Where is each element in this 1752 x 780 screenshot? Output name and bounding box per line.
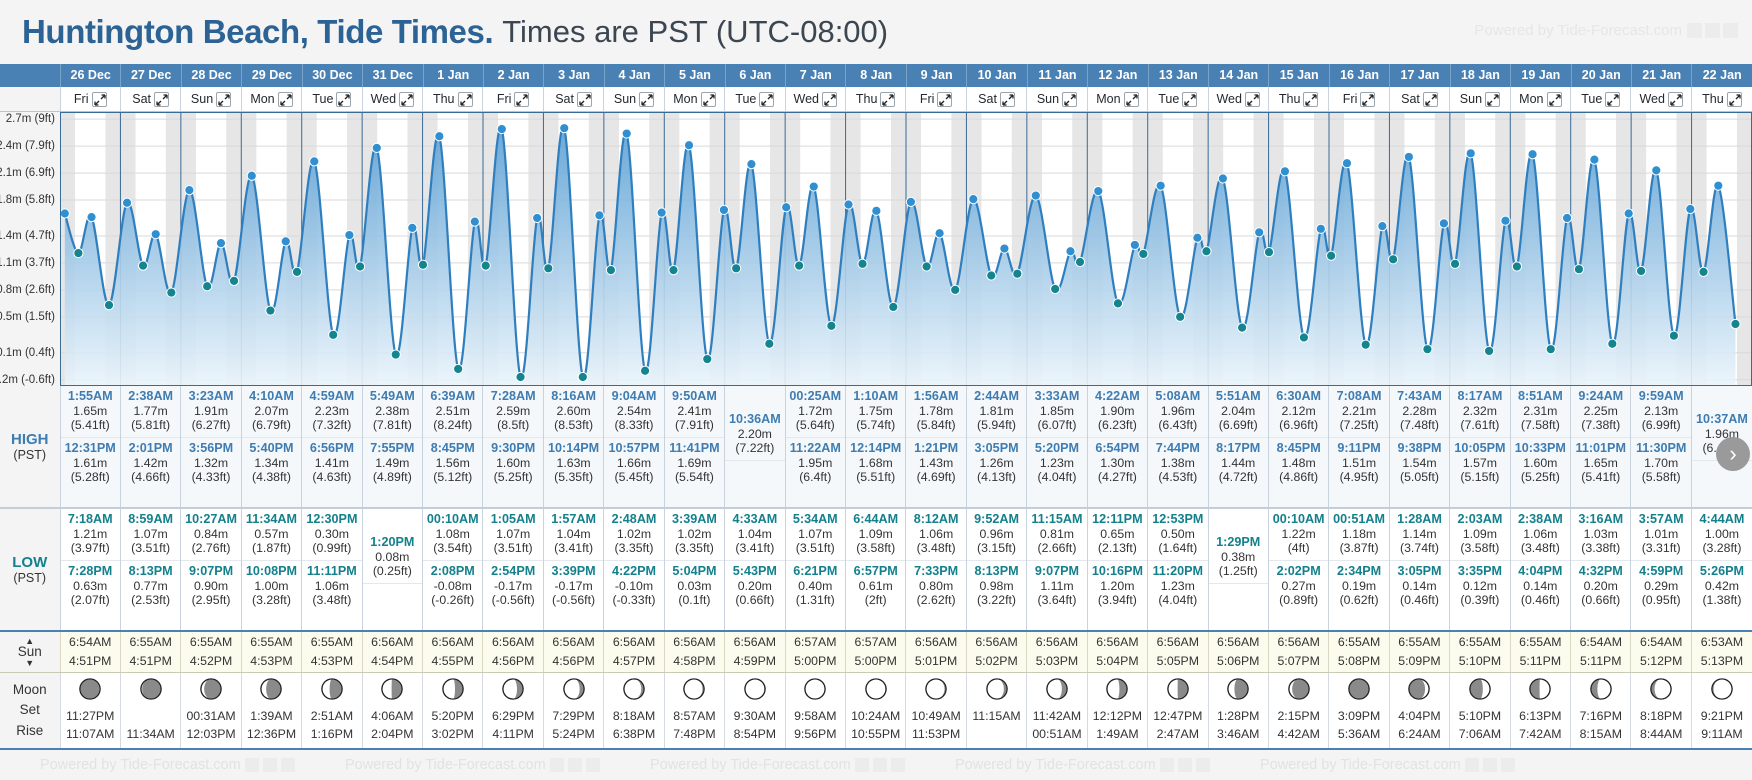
tide-time: 2:48AM — [604, 512, 663, 527]
tide-height-m: 1.07m — [786, 527, 845, 542]
tide-time: 3:05PM — [967, 441, 1026, 456]
tide-height-m: 1.06m — [302, 579, 361, 594]
weekday-cell-14: Fri — [906, 87, 966, 112]
tide-event: 10:05PM1.57m(5.15ft) — [1450, 437, 1509, 489]
weekday-label: Sun — [614, 92, 636, 106]
tide-event: 00:51AM1.18m(3.87ft) — [1329, 509, 1388, 560]
tide-height-m: 1.03m — [1571, 527, 1630, 542]
tide-event: 3:39AM1.02m(3.35ft) — [665, 509, 724, 560]
tide-height-m: 2.25m — [1571, 404, 1630, 419]
moonset-time: 7:29PM — [544, 708, 603, 726]
tide-height-m: 1.09m — [846, 527, 905, 542]
sunrise-time: 6:54AM — [1571, 633, 1630, 652]
tide-time: 4:59AM — [302, 389, 361, 404]
tide-height-m: 1.68m — [846, 456, 905, 471]
sun-cell-24: 6:55AM5:11PM — [1510, 631, 1570, 673]
tide-time: 11:41PM — [665, 441, 724, 456]
tide-time: 3:23AM — [181, 389, 240, 404]
expand-day-icon[interactable] — [1423, 92, 1438, 107]
tide-height-m: 0.12m — [1450, 579, 1509, 594]
moon-cell-20: 2:15PM4:42AM — [1268, 673, 1328, 749]
tide-time: 9:04AM — [604, 389, 663, 404]
sunset-time: 5:13PM — [1692, 652, 1752, 671]
tide-time: 7:28PM — [61, 564, 120, 579]
sunrise-time: 6:56AM — [363, 633, 422, 652]
expand-day-icon[interactable] — [336, 92, 351, 107]
expand-day-icon[interactable] — [1182, 92, 1197, 107]
weekday-cell-7: Fri — [483, 87, 543, 112]
high-tide-cell-12: 00:25AM1.72m(5.64ft)11:22AM1.95m(6.4ft) — [785, 386, 845, 508]
tide-height-ft: (6.27ft) — [181, 418, 240, 433]
low-tide-cell-11: 4:33AM1.04m(3.41ft)5:43PM0.20m(0.66ft) — [725, 508, 785, 631]
tide-height-ft: (6.23ft) — [1088, 418, 1147, 433]
high-tide-cell-8: 8:16AM2.60m(8.53ft)10:14PM1.63m(5.35ft) — [543, 386, 603, 508]
tide-event: 5:40PM1.34m(4.38ft) — [242, 437, 301, 489]
high-tide-row: HIGH (PST) 1:55AM1.65m(5.41ft)12:31PM1.6… — [0, 386, 1752, 508]
sunset-time: 4:56PM — [483, 652, 542, 671]
tide-event: 11:15AM0.81m(2.66ft) — [1027, 509, 1086, 560]
tide-time: 10:33PM — [1511, 441, 1570, 456]
weekday-cell-2: Sun — [181, 87, 241, 112]
sun-cell-6: 6:56AM4:55PM — [423, 631, 483, 673]
tide-height-ft: (8.53ft) — [544, 418, 603, 433]
tide-height-ft: (4.04ft) — [1027, 470, 1086, 485]
tide-time: 4:59PM — [1631, 564, 1690, 579]
tide-time: 9:11PM — [1329, 441, 1388, 456]
tide-event: 9:04AM2.54m(8.33ft) — [604, 386, 663, 437]
y-axis-tick-2: 2.1m (6.9ft) — [0, 167, 55, 179]
page-title: Huntington Beach, Tide Times. — [22, 13, 493, 51]
sun-cell-26: 6:54AM5:12PM — [1631, 631, 1691, 673]
sunrise-time: 6:56AM — [1269, 633, 1328, 652]
high-tide-cell-20: 6:30AM2.12m(6.96ft)8:45PM1.48m(4.86ft) — [1268, 386, 1328, 508]
tide-time: 7:28AM — [483, 389, 542, 404]
tide-time: 6:39AM — [423, 389, 482, 404]
tide-height-m: 1.41m — [302, 456, 361, 471]
date-header-row: 26 Dec27 Dec28 Dec29 Dec30 Dec31 Dec1 Ja… — [0, 64, 1752, 87]
high-tide-cell-18: 5:08AM1.96m(6.43ft)7:44PM1.38m(4.53ft) — [1148, 386, 1208, 508]
share-icon-1 — [550, 758, 564, 772]
moonrise-time: 1:16PM — [302, 726, 361, 744]
tide-time: 9:07PM — [181, 564, 240, 579]
tide-height-ft: (3.74ft) — [1390, 541, 1449, 556]
tide-height-ft: (3.87ft) — [1329, 541, 1388, 556]
low-tide-cell-23: 2:03AM1.09m(3.58ft)3:35PM0.12m(0.39ft) — [1450, 508, 1510, 631]
tide-time: 10:16PM — [1088, 564, 1147, 579]
tide-event: 9:59AM2.13m(6.99ft) — [1631, 386, 1690, 437]
tide-event: 11:11PM1.06m(3.48ft) — [302, 560, 361, 612]
tide-height-ft: (8.24ft) — [423, 418, 482, 433]
low-tide-cell-13: 6:44AM1.09m(3.58ft)6:57PM0.61m(2ft) — [845, 508, 905, 631]
tide-height-m: 1.56m — [423, 456, 482, 471]
expand-day-icon[interactable] — [1245, 92, 1260, 107]
moonset-time: 9:58AM — [786, 708, 845, 726]
tide-time: 1:29PM — [1209, 535, 1268, 550]
sunset-time: 5:12PM — [1631, 652, 1690, 671]
moonset-time: 12:12PM — [1088, 708, 1147, 726]
tide-height-m: 0.61m — [846, 579, 905, 594]
tide-event: 7:44PM1.38m(4.53ft) — [1148, 437, 1207, 489]
tide-event: 4:22AM1.90m(6.23ft) — [1088, 386, 1147, 437]
moon-cell-1: 11:34AM — [120, 673, 180, 749]
tide-height-ft: (3.35ft) — [604, 541, 663, 556]
sunrise-time: 6:54AM — [1631, 633, 1690, 652]
tide-height-m: 1.14m — [1390, 527, 1449, 542]
moon-phase-icon — [1469, 687, 1491, 704]
tide-height-m: 1.23m — [1027, 456, 1086, 471]
tide-time: 9:07PM — [1027, 564, 1086, 579]
tide-height-m: 1.65m — [61, 404, 120, 419]
tide-event: 9:52AM0.96m(3.15ft) — [967, 509, 1026, 560]
tide-event: 3:05PM0.14m(0.46ft) — [1390, 560, 1449, 612]
tide-event-empty — [1209, 583, 1268, 630]
moonrise-time: 6:38PM — [604, 726, 663, 744]
sun-cell-4: 6:55AM4:53PM — [302, 631, 362, 673]
low-tide-cell-14: 8:12AM1.06m(3.48ft)7:33PM0.80m(2.62ft) — [906, 508, 966, 631]
sunset-time: 5:03PM — [1027, 652, 1086, 671]
sun-cell-12: 6:57AM5:00PM — [785, 631, 845, 673]
sunset-time: 4:51PM — [61, 652, 120, 671]
tide-time: 1:56AM — [906, 389, 965, 404]
tide-height-ft: (3.22ft) — [967, 593, 1026, 608]
tide-height-ft: (0.62ft) — [1329, 593, 1388, 608]
moonset-time: 3:09PM — [1329, 708, 1388, 726]
tide-height-m: 2.38m — [363, 404, 422, 419]
tide-event: 9:07PM0.90m(2.95ft) — [181, 560, 240, 612]
tide-height-m: 1.30m — [1088, 456, 1147, 471]
tide-time: 7:44PM — [1148, 441, 1207, 456]
moon-cell-22: 4:04PM6:24AM — [1389, 673, 1449, 749]
watermark-text: Powered by Tide-Forecast.com — [650, 757, 851, 773]
tide-event: 8:12AM1.06m(3.48ft) — [906, 509, 965, 560]
sunset-time: 5:05PM — [1148, 652, 1207, 671]
tide-time: 9:24AM — [1571, 389, 1630, 404]
date-header-22: 17 Jan — [1389, 64, 1449, 87]
date-header-17: 12 Jan — [1087, 64, 1147, 87]
tide-height-ft: (3.35ft) — [665, 541, 724, 556]
moon-phase-icon — [744, 687, 766, 704]
expand-day-icon[interactable] — [880, 92, 895, 107]
high-tide-cell-2: 3:23AM1.91m(6.27ft)3:56PM1.32m(4.33ft) — [181, 386, 241, 508]
tide-time: 8:13PM — [967, 564, 1026, 579]
moon-cell-17: 12:12PM1:49AM — [1087, 673, 1147, 749]
expand-day-icon[interactable] — [639, 92, 654, 107]
expand-day-icon[interactable] — [577, 92, 592, 107]
expand-day-icon[interactable] — [1605, 92, 1620, 107]
moonset-time: 8:18AM — [604, 708, 663, 726]
tide-height-m: 0.30m — [302, 527, 361, 542]
watermark-text: Powered by Tide-Forecast.com — [40, 757, 241, 773]
tide-event: 00:10AM1.22m(4ft) — [1269, 509, 1328, 560]
date-header-9: 4 Jan — [604, 64, 664, 87]
tide-height-ft: (3.58ft) — [846, 541, 905, 556]
moon-cell-27: 9:21PM9:11AM — [1691, 673, 1752, 749]
tide-grid: 26 Dec27 Dec28 Dec29 Dec30 Dec31 Dec1 Ja… — [0, 64, 1752, 750]
expand-day-icon[interactable] — [399, 92, 414, 107]
moonrise-time: 11:34AM — [121, 726, 180, 744]
tide-time: 8:59AM — [121, 512, 180, 527]
share-icon-2 — [873, 758, 887, 772]
moonset-time: 4:04PM — [1390, 708, 1449, 726]
share-icon-1 — [1465, 758, 1479, 772]
tide-time: 4:10AM — [242, 389, 301, 404]
tide-event: 3:56PM1.32m(4.33ft) — [181, 437, 240, 489]
tide-height-ft: (7.22ft) — [725, 441, 784, 456]
tide-height-ft: (8.33ft) — [604, 418, 663, 433]
expand-day-icon[interactable] — [92, 92, 107, 107]
tide-time: 11:30PM — [1631, 441, 1690, 456]
share-icon-2 — [1705, 23, 1720, 38]
tide-time: 8:51AM — [1511, 389, 1570, 404]
moon-phase-icon — [865, 687, 887, 704]
tide-event: 11:20PM1.23m(4.04ft) — [1148, 560, 1207, 612]
tide-height-m: 0.57m — [242, 527, 301, 542]
y-axis-tick-8: 0.1m (0.4ft) — [0, 347, 55, 359]
tide-event: 8:51AM2.31m(7.58ft) — [1511, 386, 1570, 437]
tide-time: 5:26PM — [1692, 564, 1752, 579]
tide-height-ft: (4.69ft) — [906, 470, 965, 485]
tide-height-m: 1.23m — [1148, 579, 1207, 594]
tide-time: 2:44AM — [967, 389, 1026, 404]
tide-height-m: 1.96m — [1692, 427, 1752, 442]
y-axis-tick-0: 2.7m (9ft) — [6, 113, 55, 125]
expand-day-icon[interactable] — [1360, 92, 1375, 107]
sunset-time: 4:52PM — [181, 652, 240, 671]
weekday-cell-23: Sun — [1450, 87, 1510, 112]
sunset-time: 4:51PM — [121, 652, 180, 671]
tide-time: 8:17AM — [1450, 389, 1509, 404]
expand-day-icon[interactable] — [154, 92, 169, 107]
weekday-label: Sun — [1460, 92, 1482, 106]
sun-cell-8: 6:56AM4:56PM — [543, 631, 603, 673]
tide-height-m: 1.57m — [1450, 456, 1509, 471]
tide-height-ft: (7.25ft) — [1329, 418, 1388, 433]
low-tide-cell-24: 2:38AM1.06m(3.48ft)4:04PM0.14m(0.46ft) — [1510, 508, 1570, 631]
high-tide-cell-1: 2:38AM1.77m(5.81ft)2:01PM1.42m(4.66ft) — [120, 386, 180, 508]
tide-time: 10:37AM — [1692, 412, 1752, 427]
expand-day-icon[interactable] — [701, 92, 716, 107]
weekday-label: Thu — [1279, 92, 1301, 106]
moon-phase-icon — [1348, 687, 1370, 704]
tide-height-ft: (2ft) — [846, 593, 905, 608]
share-icon-3 — [1196, 758, 1210, 772]
weekday-label: Thu — [433, 92, 455, 106]
tide-height-ft: (4ft) — [1269, 541, 1328, 556]
date-header-24: 19 Jan — [1510, 64, 1570, 87]
sunset-time: 5:00PM — [846, 652, 905, 671]
tide-time: 4:33AM — [725, 512, 784, 527]
footer-watermark-2: Powered by Tide-Forecast.com — [650, 757, 905, 773]
tide-event: 5:51AM2.04m(6.69ft) — [1209, 386, 1268, 437]
tide-height-ft: (5.81ft) — [121, 418, 180, 433]
low-tide-cell-3: 11:34AM0.57m(1.87ft)10:08PM1.00m(3.28ft) — [241, 508, 301, 631]
date-header-1: 27 Dec — [120, 64, 180, 87]
sun-cell-15: 6:56AM5:02PM — [966, 631, 1026, 673]
tide-time: 3:35PM — [1450, 564, 1509, 579]
sun-cell-23: 6:55AM5:10PM — [1450, 631, 1510, 673]
tide-height-m: 0.80m — [906, 579, 965, 594]
weekday-spacer — [0, 87, 60, 112]
expand-day-icon[interactable] — [514, 92, 529, 107]
expand-day-icon[interactable] — [1547, 92, 1562, 107]
weekday-cell-21: Fri — [1329, 87, 1389, 112]
expand-day-icon[interactable] — [759, 92, 774, 107]
tide-event: 2:48AM1.02m(3.35ft) — [604, 509, 663, 560]
expand-day-icon[interactable] — [1000, 92, 1015, 107]
tide-event: 3:16AM1.03m(3.38ft) — [1571, 509, 1630, 560]
moonrise-time: 2:04PM — [363, 726, 422, 744]
tide-time: 10:08PM — [242, 564, 301, 579]
tide-height-m: 1.54m — [1390, 456, 1449, 471]
tide-event: 6:21PM0.40m(1.31ft) — [786, 560, 845, 612]
sunset-time: 5:09PM — [1390, 652, 1449, 671]
sun-cell-2: 6:55AM4:52PM — [181, 631, 241, 673]
sunrise-time: 6:56AM — [483, 633, 542, 652]
expand-day-icon[interactable] — [1485, 92, 1500, 107]
tide-time: 11:11PM — [302, 564, 361, 579]
tide-height-m: 1.22m — [1269, 527, 1328, 542]
tide-event: 1:56AM1.78m(5.84ft) — [906, 386, 965, 437]
sunrise-time: 6:56AM — [423, 633, 482, 652]
tide-height-m: 0.63m — [61, 579, 120, 594]
next-page-arrow-icon[interactable]: › — [1716, 437, 1750, 471]
tide-event: 3:39PM-0.17m(-0.56ft) — [544, 560, 603, 612]
tide-time: 5:08AM — [1148, 389, 1207, 404]
expand-day-icon[interactable] — [1727, 92, 1742, 107]
expand-day-icon[interactable] — [278, 92, 293, 107]
tide-time: 2:08PM — [423, 564, 482, 579]
moon-cell-21: 3:09PM5:36AM — [1329, 673, 1389, 749]
moon-row: Moon Set Rise 11:27PM11:07AM 11:34AM00:3… — [0, 673, 1752, 749]
tide-height-m: 1.00m — [1692, 527, 1752, 542]
tide-time: 4:04PM — [1511, 564, 1570, 579]
date-header-3: 29 Dec — [241, 64, 301, 87]
y-axis-tick-6: 0.8m (2.6ft) — [0, 284, 55, 296]
tide-height-ft: (5.54ft) — [665, 470, 724, 485]
sunset-time: 4:54PM — [363, 652, 422, 671]
moonset-time: 5:20PM — [423, 708, 482, 726]
tide-height-m: 1.81m — [967, 404, 1026, 419]
sunrise-time: 6:55AM — [1329, 633, 1388, 652]
sunrise-time: 6:55AM — [121, 633, 180, 652]
tide-time: 5:40PM — [242, 441, 301, 456]
tide-height-m: 1.78m — [906, 404, 965, 419]
footer-watermark-4: Powered by Tide-Forecast.com — [1260, 757, 1515, 773]
tide-height-ft: (6.07ft) — [1027, 418, 1086, 433]
tide-height-ft: (7.91ft) — [665, 418, 724, 433]
tide-height-m: 1.72m — [786, 404, 845, 419]
expand-day-icon[interactable] — [1124, 92, 1139, 107]
tide-time: 9:30PM — [483, 441, 542, 456]
y-axis-tick-4: 1.4m (4.7ft) — [0, 230, 55, 242]
tide-time: 6:57PM — [846, 564, 905, 579]
moon-cell-9: 8:18AM6:38PM — [604, 673, 664, 749]
moonset-time: 11:27PM — [61, 708, 120, 726]
date-header-12: 7 Jan — [785, 64, 845, 87]
moon-phase-icon — [683, 687, 705, 704]
moonrise-time: 1:49AM — [1088, 726, 1147, 744]
tide-height-m: 1.48m — [1269, 456, 1328, 471]
tide-height-m: 0.20m — [1571, 579, 1630, 594]
weekday-cell-11: Tue — [725, 87, 785, 112]
low-tide-row: LOW (PST) 7:18AM1.21m(3.97ft)7:28PM0.63m… — [0, 508, 1752, 631]
weekday-label: Wed — [1639, 92, 1664, 106]
page-header: Huntington Beach, Tide Times. Times are … — [0, 0, 1752, 64]
expand-day-icon[interactable] — [937, 92, 952, 107]
tide-event: 8:13PM0.98m(3.22ft) — [967, 560, 1026, 612]
tide-height-m: 1.07m — [121, 527, 180, 542]
date-header-27: 22 Jan — [1691, 64, 1752, 87]
moonrise-time: 9:56PM — [786, 726, 845, 744]
moon-cell-0: 11:27PM11:07AM — [60, 673, 120, 749]
tide-height-m: 2.28m — [1390, 404, 1449, 419]
tide-event: 6:44AM1.09m(3.58ft) — [846, 509, 905, 560]
low-tide-cell-0: 7:18AM1.21m(3.97ft)7:28PM0.63m(2.07ft) — [60, 508, 120, 631]
low-tide-cell-12: 5:34AM1.07m(3.51ft)6:21PM0.40m(1.31ft) — [785, 508, 845, 631]
tide-event: 6:30AM2.12m(6.96ft) — [1269, 386, 1328, 437]
tide-height-ft: (3.28ft) — [242, 593, 301, 608]
tide-event: 7:33PM0.80m(2.62ft) — [906, 560, 965, 612]
expand-day-icon[interactable] — [458, 92, 473, 107]
tide-height-ft: (3.48ft) — [1511, 541, 1570, 556]
expand-day-icon[interactable] — [1062, 92, 1077, 107]
tide-event: 1:57AM1.04m(3.41ft) — [544, 509, 603, 560]
tide-height-ft: (1.38ft) — [1692, 593, 1752, 608]
expand-day-icon[interactable] — [1668, 92, 1683, 107]
expand-day-icon[interactable] — [1303, 92, 1318, 107]
low-tide-cell-2: 10:27AM0.84m(2.76ft)9:07PM0.90m(2.95ft) — [181, 508, 241, 631]
tide-time: 10:57PM — [604, 441, 663, 456]
moon-cell-19: 1:28PM3:46AM — [1208, 673, 1268, 749]
tide-event: 1:28AM1.14m(3.74ft) — [1390, 509, 1449, 560]
sun-cell-14: 6:56AM5:01PM — [906, 631, 966, 673]
tide-event: 8:17PM1.44m(4.72ft) — [1209, 437, 1268, 489]
weekday-cell-16: Sun — [1027, 87, 1087, 112]
tide-height-ft: (5.84ft) — [906, 418, 965, 433]
tide-event: 9:07PM1.11m(3.64ft) — [1027, 560, 1086, 612]
moonrise-time: 10:55PM — [846, 726, 905, 744]
tide-height-m: 2.13m — [1631, 404, 1690, 419]
tide-time: 3:16AM — [1571, 512, 1630, 527]
moonset-time: 7:16PM — [1571, 708, 1630, 726]
expand-day-icon[interactable] — [216, 92, 231, 107]
tide-event: 6:56PM1.41m(4.63ft) — [302, 437, 361, 489]
tide-time: 6:54PM — [1088, 441, 1147, 456]
tide-height-ft: (3.51ft) — [483, 541, 542, 556]
share-icon-2 — [263, 758, 277, 772]
moon-phase-icon — [200, 687, 222, 704]
tide-height-ft: (0.39ft) — [1450, 593, 1509, 608]
moonrise-time: 3:02PM — [423, 726, 482, 744]
tide-height-ft: (5.51ft) — [846, 470, 905, 485]
footer-watermark-3: Powered by Tide-Forecast.com — [955, 757, 1210, 773]
weekday-cell-17: Mon — [1087, 87, 1147, 112]
moonrise-time: 2:47AM — [1148, 726, 1207, 744]
tide-time: 3:56PM — [181, 441, 240, 456]
tide-height-m: 1.77m — [121, 404, 180, 419]
weekday-label: Thu — [1702, 92, 1724, 106]
moonset-time: 11:15AM — [967, 708, 1026, 726]
sunrise-time: 6:57AM — [846, 633, 905, 652]
high-tide-cell-4: 4:59AM2.23m(7.32ft)6:56PM1.41m(4.63ft) — [302, 386, 362, 508]
tide-event: 10:08PM1.00m(3.28ft) — [242, 560, 301, 612]
tide-height-ft: (5.41ft) — [1571, 470, 1630, 485]
tide-height-ft: (2.76ft) — [181, 541, 240, 556]
expand-day-icon[interactable] — [822, 92, 837, 107]
tide-chart-page: Huntington Beach, Tide Times. Times are … — [0, 0, 1752, 780]
moon-phase-icon — [925, 687, 947, 704]
tide-height-m: 1.06m — [906, 527, 965, 542]
